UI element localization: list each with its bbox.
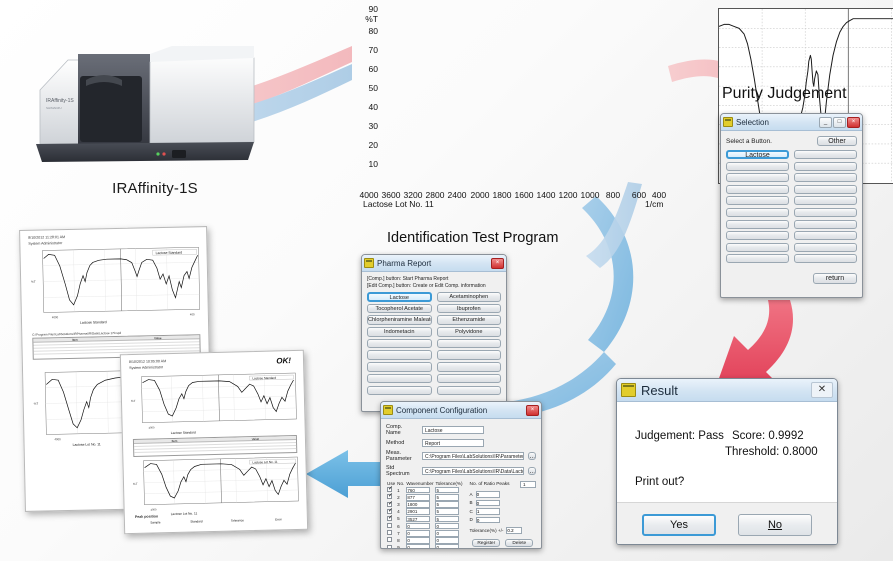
report1-spectrum-1: Lactose Standard %T 4000 400 Lactose Sta… — [28, 245, 202, 329]
pharma-report-window: Pharma Report × [Comp.] button: Start Ph… — [361, 254, 507, 412]
row-no-1: 1 — [396, 487, 405, 494]
peak-table-header: Sample Standard Tolerance Error — [135, 517, 299, 525]
peak-section-title: Peak position — [135, 514, 158, 519]
row-no-7: 7 — [396, 530, 405, 537]
print-prompt: Print out? — [635, 476, 684, 488]
selection-titlebar[interactable]: Selection _ □ × — [721, 114, 862, 131]
svg-text:Lactose Lot No. 11: Lactose Lot No. 11 — [73, 442, 101, 447]
svg-text:4000: 4000 — [54, 437, 61, 441]
selection-button-l10[interactable] — [726, 254, 789, 263]
svg-text:Lactose Lot No. 11: Lactose Lot No. 11 — [252, 460, 277, 465]
ratio-row-label-a: A — [470, 492, 473, 497]
pharma-body: [Comp.] button: Start Pharma Report [Edi… — [362, 272, 506, 399]
svg-text:%T: %T — [133, 482, 138, 486]
window-controls[interactable]: × — [491, 258, 504, 269]
close-icon[interactable]: × — [526, 405, 539, 416]
tolerance-input-9[interactable]: 0 — [435, 544, 459, 549]
wavenumber-input-9[interactable]: 0 — [406, 544, 430, 549]
table-row[interactable]: 318005 — [386, 501, 464, 508]
pharma-button-r6[interactable] — [437, 350, 502, 360]
table-row[interactable]: 800 — [386, 537, 464, 544]
selection-prompt: Select a Button. — [726, 138, 772, 145]
spectrum-sample-label: Lactose Lot No. 11 — [363, 199, 434, 209]
result-content: Judgement: Pass Score: 0.9992 Threshold:… — [617, 402, 837, 502]
no-button-label: No — [768, 519, 782, 531]
selection-button-l9[interactable] — [726, 243, 789, 252]
y-axis-tick-50: 50 — [352, 84, 378, 93]
app-icon — [364, 258, 374, 268]
svg-text:%T: %T — [34, 402, 39, 406]
std-spectrum-row: Std Spectrum C:\Program Files\LabSolutio… — [386, 465, 536, 477]
app-icon — [621, 383, 636, 397]
selection-button-r1[interactable] — [794, 150, 857, 159]
selection-button-r3[interactable] — [794, 173, 857, 182]
close-icon[interactable]: ✕ — [811, 382, 833, 398]
spectrum-x-axis-unit: 1/cm — [645, 199, 663, 209]
y-axis-tick-20: 20 — [352, 141, 378, 150]
selection-button-l8[interactable] — [726, 231, 789, 240]
pharma-button-l6[interactable] — [367, 350, 432, 360]
report2-spectrum-2: Lactose Lot No. 11 %T 4000 Lactose Lot N… — [131, 455, 300, 517]
result-title: Result — [641, 383, 806, 398]
svg-text:IRAffinity-1S: IRAffinity-1S — [46, 98, 74, 104]
app-icon — [723, 117, 733, 127]
app-icon — [383, 405, 393, 415]
method-select[interactable]: Report — [422, 439, 484, 447]
tolerance-input-5[interactable]: 5 — [435, 516, 459, 523]
wavenumber-input-3[interactable]: 1800 — [406, 501, 430, 508]
svg-text:4000: 4000 — [52, 315, 59, 319]
window-controls[interactable]: _ □ × — [819, 117, 860, 128]
tolerance-input-2[interactable]: 5 — [435, 494, 459, 501]
result-titlebar[interactable]: Result ✕ — [617, 379, 837, 402]
selection-dialog: Selection _ □ × Select a Button. Other L… — [720, 113, 863, 298]
use-checkbox-7[interactable] — [387, 530, 392, 535]
result-dialog: Result ✕ Judgement: Pass Score: 0.9992 T… — [616, 378, 838, 545]
pharma-button-chlorpheniramine-maleate[interactable]: Chlorpheniramine Maleate — [367, 315, 432, 325]
minimize-icon[interactable]: _ — [819, 117, 832, 128]
svg-text:%T: %T — [31, 280, 36, 284]
row-no-2: 2 — [396, 494, 405, 501]
selection-title: Selection — [736, 118, 816, 127]
selection-button-l4[interactable] — [726, 185, 789, 194]
wavenumber-input-7[interactable]: 0 — [406, 530, 430, 537]
close-icon[interactable]: × — [491, 258, 504, 269]
instrument-label: IRAffinity-1S — [40, 180, 270, 197]
comp-name-label: Comp. Name — [386, 424, 418, 436]
meas-parameter-label: Meas. Parameter — [386, 450, 418, 462]
result-buttons: Yes No — [617, 502, 837, 545]
pharma-button-r8[interactable] — [437, 374, 502, 384]
method-row: Method Report ▾ — [386, 439, 536, 447]
return-button[interactable]: return — [813, 273, 857, 284]
browse-std-spectrum-button[interactable]: … — [528, 467, 536, 475]
no-button[interactable]: No — [738, 514, 812, 536]
compcfg-title: Component Configuration — [396, 406, 523, 415]
ok-stamp: OK! — [276, 356, 291, 365]
row-no-8: 8 — [396, 537, 405, 544]
pharma-button-polyvidone[interactable]: Polyvidone — [437, 327, 502, 337]
table-row[interactable]: 17605 — [386, 487, 464, 494]
window-controls[interactable]: × — [526, 405, 539, 416]
peak-col-standard: Standard — [176, 519, 217, 524]
pharma-button-l7[interactable] — [367, 362, 432, 372]
row-no-6: 6 — [396, 522, 405, 529]
selection-button-r4[interactable] — [794, 185, 857, 194]
y-axis-tick-10: 10 — [352, 160, 378, 169]
tolerance-input-1[interactable]: 5 — [435, 487, 459, 494]
pharma-button-grid: Lactose Acetaminophen Tocopherol Acetate… — [367, 292, 501, 395]
pharma-button-r7[interactable] — [437, 362, 502, 372]
table-row[interactable]: 700 — [386, 530, 464, 537]
svg-text:4000: 4000 — [151, 507, 157, 511]
row-no-9: 9 — [396, 544, 405, 549]
compcfg-body: Comp. Name Lactose Method Report ▾ Meas.… — [381, 419, 541, 549]
table-row[interactable]: 28775 — [386, 494, 464, 501]
selection-button-r6[interactable] — [794, 208, 857, 217]
svg-text:Lactose Standard: Lactose Standard — [80, 320, 107, 325]
component-configuration-window: Component Configuration × Comp. Name Lac… — [380, 401, 542, 549]
col-tolerance: Tolerance(%) — [434, 481, 463, 487]
selection-body: Select a Button. Other Lactose — [721, 131, 862, 294]
selection-button-r10[interactable] — [794, 254, 857, 263]
ratio-peaks-count-select[interactable]: 1 — [520, 481, 536, 488]
col-wavenumber: Wavenumber — [405, 481, 434, 487]
use-checkbox-9[interactable] — [387, 545, 392, 549]
std-spectrum-field[interactable]: C:\Program Files\LabSolutions\IR\Data\La… — [422, 467, 524, 475]
wavenumber-input-5[interactable]: 3527 — [406, 516, 430, 523]
table-row[interactable]: 600 — [386, 522, 464, 529]
pharma-button-ethenzamide[interactable]: Ethenzamide — [437, 315, 502, 325]
other-button[interactable]: Other — [817, 136, 857, 146]
pharma-button-l9[interactable] — [367, 386, 432, 396]
ratio-input-a[interactable]: 0 — [476, 491, 500, 498]
y-axis-tick-70: 70 — [352, 46, 378, 55]
use-checkbox-6[interactable] — [387, 523, 392, 528]
close-icon[interactable]: × — [847, 117, 860, 128]
selection-button-l2[interactable] — [726, 162, 789, 171]
svg-text:Lactose Standard: Lactose Standard — [156, 251, 183, 256]
report2-spectrum-1: Lactose Standard %T 4000 Lactose Standar… — [129, 371, 298, 437]
tolerance-total-input[interactable]: 0.2 — [506, 527, 522, 534]
selection-button-l5[interactable] — [726, 196, 789, 205]
y-axis-tick-30: 30 — [352, 122, 378, 131]
printed-report-page-2: 8/10/2012 10:05:00 AM System Administrat… — [120, 350, 308, 534]
svg-text:%T: %T — [131, 399, 136, 403]
ratio-input-c[interactable]: 1 — [476, 508, 500, 515]
report2-table-1: Item Value — [133, 435, 297, 457]
pharma-button-indometacin[interactable]: Indometacin — [367, 327, 432, 337]
svg-text:400: 400 — [190, 312, 195, 316]
method-label: Method — [386, 440, 418, 446]
selection-button-grid: Lactose — [726, 150, 857, 263]
meas-parameter-row: Meas. Parameter C:\Program Files\LabSolu… — [386, 450, 536, 462]
report2-user: System Administrator — [129, 365, 163, 370]
ratio-row-label-b: B — [470, 500, 473, 505]
pharma-button-ibuprofen[interactable]: Ibuprofen — [437, 304, 502, 314]
result-body: Judgement: Pass Score: 0.9992 Threshold:… — [617, 402, 837, 545]
svg-text:Lactose Standard: Lactose Standard — [171, 430, 196, 435]
selection-button-r5[interactable] — [794, 196, 857, 205]
purity-judgement-title: Purity Judgement — [722, 85, 847, 103]
y-axis-tick-90: 90 — [352, 4, 378, 14]
judgement-label: Judgement: Pass — [635, 430, 724, 442]
meas-parameter-field[interactable]: C:\Program Files\LabSolutions\IR\Paramet… — [422, 452, 524, 460]
pharma-button-l8[interactable] — [367, 374, 432, 384]
ratio-input-b[interactable]: 0 — [476, 500, 500, 507]
peak-col-sample: Sample — [135, 520, 176, 525]
ratio-peaks-panel: No. of Ratio Peaks 1 A0 B0 C1 D0 Toleran… — [470, 481, 536, 549]
compcfg-titlebar[interactable]: Component Configuration × — [381, 402, 541, 419]
pharma-titlebar[interactable]: Pharma Report × — [362, 255, 506, 272]
wavenumber-input-2[interactable]: 877 — [406, 494, 430, 501]
svg-text:Lactose Lot No. 11: Lactose Lot No. 11 — [171, 511, 198, 516]
report2-date: 8/10/2012 10:05:00 AM — [129, 359, 166, 364]
browse-meas-parameter-button[interactable]: … — [528, 452, 536, 460]
ratio-input-d[interactable]: 0 — [476, 517, 500, 524]
pharma-title: Pharma Report — [377, 259, 488, 268]
pharma-button-acetaminophen[interactable]: Acetaminophen — [437, 292, 502, 302]
table-header-row: Use No. Wavenumber Tolerance(%) — [386, 481, 464, 487]
pharma-hint-1: [Comp.] button: Start Pharma Report — [367, 276, 501, 282]
tolerance-input-3[interactable]: 5 — [435, 501, 459, 508]
pharma-button-r9[interactable] — [437, 386, 502, 396]
row-no-5: 5 — [396, 515, 405, 522]
wavenumber-input-6[interactable]: 0 — [406, 523, 430, 530]
svg-text:SHIMADZU: SHIMADZU — [46, 106, 62, 110]
table-row[interactable]: 429015 — [386, 508, 464, 515]
pharma-button-lactose[interactable]: Lactose — [367, 292, 432, 302]
col-no: No. — [396, 481, 405, 487]
ratio-row-label-c: C — [470, 509, 473, 514]
table-row[interactable]: 900 — [386, 544, 464, 549]
selection-button-r7[interactable] — [794, 220, 857, 229]
selection-button-r9[interactable] — [794, 243, 857, 252]
wavenumber-table: Use No. Wavenumber Tolerance(%) 17605 28… — [386, 481, 464, 549]
score-label: Score: 0.9992 — [732, 430, 804, 442]
wavenumber-input-1[interactable]: 760 — [406, 487, 430, 494]
tolerance-input-8[interactable]: 0 — [435, 537, 459, 544]
selection-button-l7[interactable] — [726, 220, 789, 229]
comp-name-field[interactable]: Lactose — [422, 426, 484, 434]
row-no-3: 3 — [396, 501, 405, 508]
ratio-row-label-d: D — [470, 517, 473, 522]
table-row[interactable]: 535275 — [386, 515, 464, 522]
selection-button-r2[interactable] — [794, 162, 857, 171]
use-checkbox-8[interactable] — [387, 537, 392, 542]
tolerance-input-6[interactable]: 0 — [435, 523, 459, 530]
threshold-label: Threshold: 0.8000 — [725, 446, 818, 458]
iraffinity-spectrometer-image: IRAffinity-1S SHIMADZU — [22, 32, 284, 182]
comp-name-row: Comp. Name Lactose — [386, 424, 536, 436]
pharma-hint-2: [Edit Comp.] button: Create or Edit Comp… — [367, 283, 501, 289]
pharma-button-tocopherol-acetate[interactable]: Tocopherol Acetate — [367, 304, 432, 314]
peak-col-error: Error — [258, 517, 299, 522]
selection-button-l3[interactable] — [726, 173, 789, 182]
y-axis-tick-60: 60 — [352, 65, 378, 74]
ratio-peaks-label: No. of Ratio Peaks — [470, 482, 510, 487]
report1-user: System Administrator — [28, 241, 62, 246]
svg-text:Lactose Standard: Lactose Standard — [252, 376, 276, 381]
wavenumber-input-4[interactable]: 2901 — [406, 508, 430, 515]
svg-text:4000: 4000 — [149, 425, 155, 429]
selection-button-lactose[interactable]: Lactose — [726, 150, 789, 159]
wavenumber-input-8[interactable]: 0 — [406, 537, 430, 544]
maximize-icon[interactable]: □ — [833, 117, 846, 128]
identification-test-program-title: Identification Test Program — [387, 230, 558, 246]
row-no-4: 4 — [396, 508, 405, 515]
pharma-button-l5[interactable] — [367, 339, 432, 349]
selection-button-l6[interactable] — [726, 208, 789, 217]
y-axis-tick-40: 40 — [352, 103, 378, 112]
delete-button[interactable]: Delete — [505, 539, 533, 547]
peak-col-tolerance: Tolerance — [217, 518, 258, 523]
register-button[interactable]: Register — [472, 539, 500, 547]
tolerance-input-4[interactable]: 5 — [435, 508, 459, 515]
tolerance-total-label: Tolerance(%) +/- — [470, 528, 504, 533]
pharma-button-r5[interactable] — [437, 339, 502, 349]
selection-button-r8[interactable] — [794, 231, 857, 240]
infographic-canvas: IRAffinity-1S SHIMADZU IRAffinity-1S 90 … — [0, 0, 893, 561]
std-spectrum-label: Std Spectrum — [386, 465, 418, 477]
ir-spectrum-chart: 90 %T 80 70 60 50 40 30 20 10 — [352, 2, 684, 220]
report1-date: 8/10/2012 11:28:01 AM — [28, 235, 65, 240]
yes-button[interactable]: Yes — [642, 514, 716, 536]
y-axis-title: %T — [352, 14, 378, 24]
tolerance-input-7[interactable]: 0 — [435, 530, 459, 537]
y-axis-tick-80: 80 — [352, 27, 378, 36]
use-checkbox-5[interactable] — [387, 516, 392, 521]
